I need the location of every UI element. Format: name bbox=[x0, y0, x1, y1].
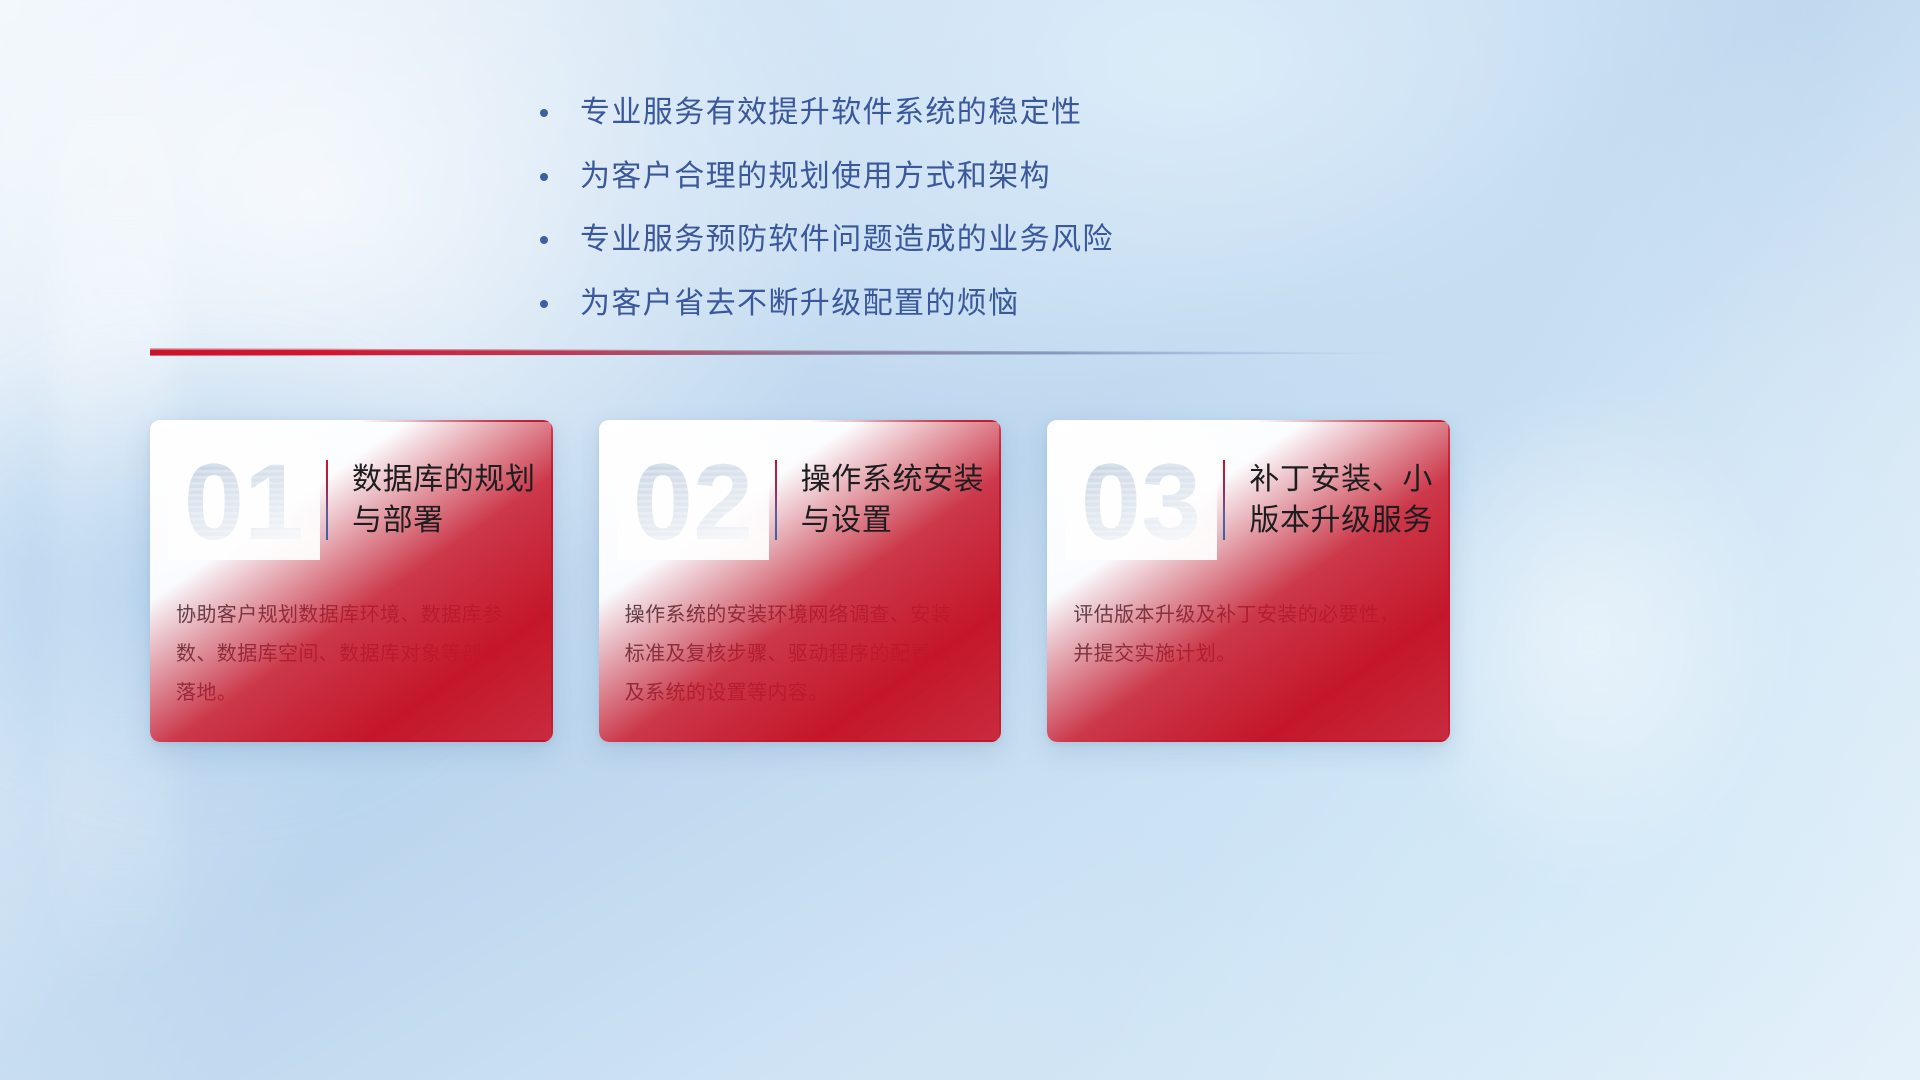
list-item: 为客户合理的规划使用方式和架构 bbox=[540, 156, 1440, 199]
card-bottom-edge-accent bbox=[639, 740, 1001, 742]
striped-numeral-graphic: 01 bbox=[168, 440, 320, 560]
card-header: 02 操作系统安装与设置 bbox=[599, 420, 1002, 580]
ghost-number-02-icon: 02 bbox=[617, 440, 769, 560]
benefits-bullet-list: 专业服务有效提升软件系统的稳定性 为客户合理的规划使用方式和架构 专业服务预防软… bbox=[540, 92, 1440, 346]
card-description: 评估版本升级及补丁安装的必要性，并提交实施计划。 bbox=[1047, 580, 1450, 674]
bullet-text: 专业服务预防软件问题造成的业务风险 bbox=[580, 219, 1114, 262]
list-item: 专业服务有效提升软件系统的稳定性 bbox=[540, 92, 1440, 135]
card-bottom-edge-accent bbox=[190, 740, 552, 742]
card-description: 协助客户规划数据库环境、数据库参数、数据库空间、数据库对象等部署落地。 bbox=[150, 580, 553, 713]
bullet-text: 为客户合理的规划使用方式和架构 bbox=[580, 156, 1051, 199]
card-title-divider bbox=[1223, 460, 1225, 540]
card-title-divider bbox=[326, 460, 328, 540]
ghost-number-03-icon: 03 bbox=[1065, 440, 1217, 560]
presentation-slide: 专业服务有效提升软件系统的稳定性 为客户合理的规划使用方式和架构 专业服务预防软… bbox=[0, 0, 1920, 1080]
service-card[interactable]: 02 操作系统安装与设置 操作系统的安装环境网络调查、安装标准及复核步骤、驱动程… bbox=[599, 420, 1002, 742]
striped-numeral-graphic: 03 bbox=[1065, 440, 1217, 560]
card-bottom-edge-accent bbox=[1088, 740, 1450, 742]
card-header: 01 数据库的规划与部署 bbox=[150, 420, 553, 580]
card-title: 补丁安装、小版本升级服务 bbox=[1249, 459, 1450, 542]
card-title-divider bbox=[775, 460, 777, 540]
list-item: 为客户省去不断升级配置的烦恼 bbox=[540, 283, 1440, 326]
bullet-dot-icon bbox=[540, 300, 548, 308]
striped-numeral-graphic: 02 bbox=[617, 440, 769, 560]
service-card[interactable]: 01 数据库的规划与部署 协助客户规划数据库环境、数据库参数、数据库空间、数据库… bbox=[150, 420, 553, 742]
service-card-row: 01 数据库的规划与部署 协助客户规划数据库环境、数据库参数、数据库空间、数据库… bbox=[150, 420, 1450, 742]
bullet-dot-icon bbox=[540, 173, 548, 181]
card-title: 操作系统安装与设置 bbox=[801, 459, 1002, 542]
ghost-number-01-icon: 01 bbox=[168, 440, 320, 560]
bullet-dot-icon bbox=[540, 236, 548, 244]
card-title: 数据库的规划与部署 bbox=[352, 459, 553, 542]
card-header: 03 补丁安装、小版本升级服务 bbox=[1047, 420, 1450, 580]
bullet-text: 为客户省去不断升级配置的烦恼 bbox=[580, 283, 1020, 326]
service-card[interactable]: 03 补丁安装、小版本升级服务 评估版本升级及补丁安装的必要性，并提交实施计划。 bbox=[1047, 420, 1450, 742]
bullet-text: 专业服务有效提升软件系统的稳定性 bbox=[580, 92, 1082, 135]
list-item: 专业服务预防软件问题造成的业务风险 bbox=[540, 219, 1440, 262]
bullet-dot-icon bbox=[540, 109, 548, 117]
card-description: 操作系统的安装环境网络调查、安装标准及复核步骤、驱动程序的配置以及系统的设置等内… bbox=[599, 580, 1002, 713]
